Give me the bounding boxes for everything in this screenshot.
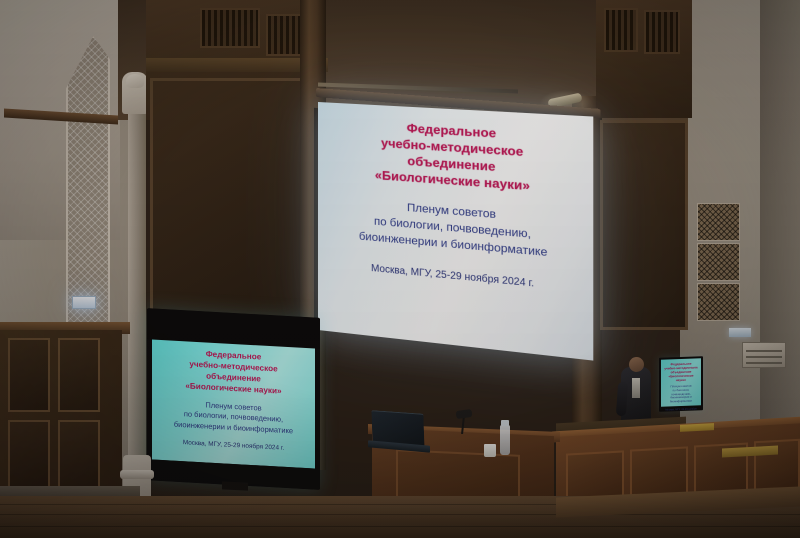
conference-hall-photo: Федеральное учебно-методическое объедине… (0, 0, 800, 538)
vent-slats-right-b (644, 10, 680, 54)
slide-date: Москва, МГУ, 25-29 ноября 2024 г. (371, 263, 534, 290)
wall-grille-middle (697, 243, 740, 281)
water-bottle[interactable] (500, 425, 510, 455)
podium-title-line-4: «Биологические науки» (663, 373, 699, 382)
wall-grille-top (697, 203, 740, 241)
wall-grille-bottom (697, 283, 740, 321)
plaque-line-1 (746, 350, 782, 352)
lattice-panel-left (66, 36, 110, 326)
wall-plaque (742, 342, 786, 368)
projection-screen[interactable]: Федеральное учебно-методическое объедине… (318, 102, 593, 361)
vent-slats-right-a (604, 8, 638, 52)
podium-monitor-screen: Федеральное учебно-методическое объедине… (661, 358, 701, 406)
slide-content: Федеральное учебно-методическое объедине… (318, 102, 593, 361)
podium-subtitle-line-3: биоинженерии и биоинформатике (663, 396, 699, 405)
monitor-stand (222, 481, 248, 490)
monitor-slide-title: Федеральное учебно-методическое объедине… (185, 348, 281, 397)
door-left[interactable] (0, 330, 122, 505)
presenter-head (629, 357, 644, 372)
plaque-line-2 (746, 356, 782, 358)
plaque-line-3 (746, 362, 782, 364)
cup[interactable] (484, 444, 496, 457)
microphone[interactable] (456, 409, 473, 419)
floor-plank-3 (0, 526, 800, 527)
monitor-screen: Федеральное учебно-методическое объедине… (152, 339, 315, 468)
confidence-monitor[interactable]: Федеральное учебно-методическое объедине… (147, 308, 320, 490)
bottle-cap (501, 420, 509, 426)
door-panel-upper-left (8, 338, 50, 412)
door-panel-lower-left (8, 420, 50, 490)
corbel-knob (126, 74, 144, 88)
monitor-slide-date: Москва, МГУ, 25-29 ноября 2024 г. (183, 439, 284, 452)
wood-panel-block-right (600, 120, 688, 330)
podium-monitor-title: Федеральное учебно-методическое объедине… (663, 361, 699, 382)
presenter-shirt (632, 378, 640, 398)
vent-slats-upper-left (200, 8, 260, 48)
column-capital-ring (120, 470, 154, 479)
door-panel-lower-right (58, 420, 100, 490)
podium-monitor[interactable]: Федеральное учебно-методическое объедине… (659, 356, 703, 412)
monitor-slide-subtitle: Пленум советов по биологии, почвоведению… (174, 398, 293, 436)
podium-monitor-subtitle: Пленум советов по биологии, почвоведению… (663, 384, 699, 404)
slide-subtitle: Пленум советов по биологии, почвоведению… (359, 196, 548, 262)
wood-panel-block-left (150, 78, 320, 328)
door-panel-upper-right (58, 338, 100, 412)
slide-title: Федеральное учебно-методическое объедине… (375, 118, 530, 195)
wall-indicator-sign (729, 328, 751, 337)
floor-plank-2 (0, 514, 800, 515)
emergency-exit-sign (72, 296, 96, 309)
pilaster-left (128, 105, 146, 455)
